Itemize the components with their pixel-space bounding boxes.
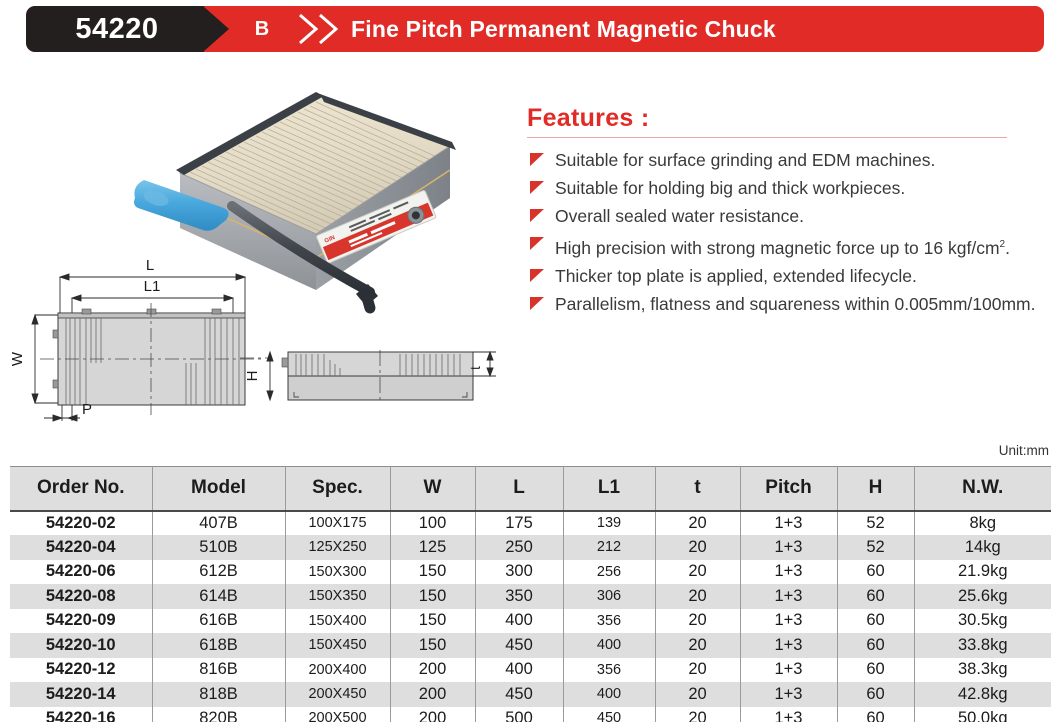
table-cell: 175	[475, 511, 563, 536]
series-label: B	[232, 6, 292, 52]
feature-item: Overall sealed water resistance.	[527, 204, 1047, 230]
page-header: 54220 B Fine Pitch Permanent Magnetic Ch…	[26, 6, 1044, 52]
table-row: 54220-14818B200X450200450400201+36042.8k…	[10, 682, 1051, 707]
table-cell: 20	[655, 658, 740, 683]
table-header-row: Order No. Model Spec. W L L1 t Pitch H N…	[10, 467, 1051, 511]
table-cell: 150X400	[285, 609, 390, 634]
feature-item: Thicker top plate is applied, extended l…	[527, 264, 1047, 290]
table-cell: 510B	[152, 535, 285, 560]
column-header-w: W	[390, 467, 475, 511]
table-cell: 300	[475, 560, 563, 585]
table-cell: 60	[837, 609, 914, 634]
table-cell: 450	[475, 633, 563, 658]
table-cell: 150	[390, 560, 475, 585]
table-cell: 820B	[152, 707, 285, 722]
dimension-label-t: t	[467, 366, 483, 370]
table-cell: 212	[563, 535, 655, 560]
column-header-l: L	[475, 467, 563, 511]
column-header-t: t	[655, 467, 740, 511]
table-row: 54220-02407B100X175100175139201+3528kg	[10, 511, 1051, 536]
feature-text-tail: .	[1005, 238, 1010, 258]
table-cell: 200X450	[285, 682, 390, 707]
table-cell: 54220-08	[10, 584, 152, 609]
table-cell: 450	[475, 682, 563, 707]
features-section: Features : Suitable for surface grinding…	[527, 104, 1047, 320]
table-cell: 54220-09	[10, 609, 152, 634]
table-body: 54220-02407B100X175100175139201+3528kg54…	[10, 511, 1051, 722]
table-cell: 250	[475, 535, 563, 560]
table-cell: 60	[837, 633, 914, 658]
table-cell: 50.0kg	[914, 707, 1051, 722]
table-cell: 20	[655, 633, 740, 658]
feature-item: Suitable for surface grinding and EDM ma…	[527, 148, 1047, 174]
table-cell: 54220-04	[10, 535, 152, 560]
table-cell: 54220-10	[10, 633, 152, 658]
table-cell: 60	[837, 682, 914, 707]
features-heading: Features :	[527, 104, 1047, 133]
table-cell: 1+3	[740, 535, 837, 560]
table-cell: 33.8kg	[914, 633, 1051, 658]
table-cell: 356	[563, 658, 655, 683]
table-cell: 400	[475, 658, 563, 683]
table-row: 54220-08614B150X350150350306201+36025.6k…	[10, 584, 1051, 609]
table-cell: 30.5kg	[914, 609, 1051, 634]
table-row: 54220-06612B150X300150300256201+36021.9k…	[10, 560, 1051, 585]
table-row: 54220-16820B200X500200500450201+36050.0k…	[10, 707, 1051, 722]
feature-item: High precision with strong magnetic forc…	[527, 232, 1047, 261]
bullet-triangle-icon	[530, 297, 544, 310]
table-cell: 1+3	[740, 609, 837, 634]
table-cell: 54220-12	[10, 658, 152, 683]
column-header-model: Model	[152, 467, 285, 511]
dimension-label-W: W	[9, 351, 26, 366]
table-cell: 200X400	[285, 658, 390, 683]
order-code-arrow-point	[203, 6, 229, 52]
feature-text: Suitable for surface grinding and EDM ma…	[555, 150, 935, 170]
table-cell: 1+3	[740, 633, 837, 658]
column-header-l1: L1	[563, 467, 655, 511]
table-cell: 60	[837, 560, 914, 585]
table-cell: 1+3	[740, 511, 837, 536]
table-cell: 356	[563, 609, 655, 634]
table-cell: 14kg	[914, 535, 1051, 560]
table-cell: 54220-16	[10, 707, 152, 722]
column-header-spec: Spec.	[285, 467, 390, 511]
table-cell: 400	[563, 633, 655, 658]
table-cell: 100	[390, 511, 475, 536]
table-cell: 306	[563, 584, 655, 609]
table-cell: 200	[390, 658, 475, 683]
table-cell: 407B	[152, 511, 285, 536]
table-cell: 20	[655, 707, 740, 722]
bullet-triangle-icon	[530, 209, 544, 222]
page-title: Fine Pitch Permanent Magnetic Chuck	[351, 6, 776, 52]
table-cell: 52	[837, 535, 914, 560]
table-cell: 20	[655, 535, 740, 560]
table-cell: 614B	[152, 584, 285, 609]
table-row: 54220-12816B200X400200400356201+36038.3k…	[10, 658, 1051, 683]
table-cell: 54220-02	[10, 511, 152, 536]
table-cell: 1+3	[740, 707, 837, 722]
table-cell: 1+3	[740, 560, 837, 585]
table-cell: 8kg	[914, 511, 1051, 536]
bullet-triangle-icon	[530, 269, 544, 282]
table-cell: 1+3	[740, 682, 837, 707]
features-divider	[527, 137, 1007, 138]
table-cell: 21.9kg	[914, 560, 1051, 585]
table-cell: 200X500	[285, 707, 390, 722]
table-cell: 20	[655, 609, 740, 634]
bullet-triangle-icon	[530, 181, 544, 194]
table-cell: 42.8kg	[914, 682, 1051, 707]
feature-text: Parallelism, flatness and squareness wit…	[555, 294, 1036, 314]
dimension-label-L: L	[146, 257, 154, 274]
dimension-label-P: P	[82, 401, 92, 418]
table-cell: 200	[390, 707, 475, 722]
table-cell: 612B	[152, 560, 285, 585]
table-cell: 150	[390, 633, 475, 658]
side-view-drawing: H t	[240, 330, 515, 425]
table-cell: 616B	[152, 609, 285, 634]
column-header-order-no: Order No.	[10, 467, 152, 511]
table-cell: 20	[655, 511, 740, 536]
table-cell: 618B	[152, 633, 285, 658]
feature-text: Overall sealed water resistance.	[555, 206, 804, 226]
bullet-triangle-icon	[530, 237, 544, 250]
order-code: 54220	[26, 6, 204, 52]
table-cell: 816B	[152, 658, 285, 683]
table-cell: 125X250	[285, 535, 390, 560]
table-cell: 52	[837, 511, 914, 536]
feature-text: High precision with strong magnetic forc…	[555, 238, 1000, 258]
table-cell: 350	[475, 584, 563, 609]
table-cell: 200	[390, 682, 475, 707]
table-cell: 54220-06	[10, 560, 152, 585]
table-cell: 60	[837, 658, 914, 683]
table-row: 54220-09616B150X400150400356201+36030.5k…	[10, 609, 1051, 634]
table-cell: 139	[563, 511, 655, 536]
table-cell: 150	[390, 584, 475, 609]
table-cell: 20	[655, 682, 740, 707]
table-cell: 60	[837, 707, 914, 722]
chevron-right-icon	[298, 13, 344, 50]
table-row: 54220-10618B150X450150450400201+36033.8k…	[10, 633, 1051, 658]
dimension-label-H: H	[244, 371, 261, 382]
bullet-triangle-icon	[530, 153, 544, 166]
feature-text: Suitable for holding big and thick workp…	[555, 178, 905, 198]
table-cell: 400	[563, 682, 655, 707]
catalog-page: 54220 B Fine Pitch Permanent Magnetic Ch…	[0, 0, 1061, 722]
column-header-pitch: Pitch	[740, 467, 837, 511]
table-cell: 20	[655, 560, 740, 585]
feature-item: Suitable for holding big and thick workp…	[527, 176, 1047, 202]
table-cell: 1+3	[740, 658, 837, 683]
table-cell: 100X175	[285, 511, 390, 536]
table-cell: 150	[390, 609, 475, 634]
table-cell: 125	[390, 535, 475, 560]
table-row: 54220-04510B125X250125250212201+35214kg	[10, 535, 1051, 560]
column-header-nw: N.W.	[914, 467, 1051, 511]
table-cell: 150X450	[285, 633, 390, 658]
feature-text: Thicker top plate is applied, extended l…	[555, 266, 917, 286]
table-cell: 818B	[152, 682, 285, 707]
table-cell: 25.6kg	[914, 584, 1051, 609]
table-cell: 256	[563, 560, 655, 585]
table-cell: 400	[475, 609, 563, 634]
unit-note: Unit:mm	[999, 443, 1049, 458]
table-cell: 38.3kg	[914, 658, 1051, 683]
table-cell: 1+3	[740, 584, 837, 609]
table-cell: 500	[475, 707, 563, 722]
specification-table: Order No. Model Spec. W L L1 t Pitch H N…	[10, 466, 1051, 722]
column-header-h: H	[837, 467, 914, 511]
feature-item: Parallelism, flatness and squareness wit…	[527, 292, 1047, 318]
table-cell: 20	[655, 584, 740, 609]
table-cell: 54220-14	[10, 682, 152, 707]
table-cell: 150X300	[285, 560, 390, 585]
table-cell: 150X350	[285, 584, 390, 609]
dimension-label-L1: L1	[144, 278, 161, 295]
table-cell: 60	[837, 584, 914, 609]
table-cell: 450	[563, 707, 655, 722]
